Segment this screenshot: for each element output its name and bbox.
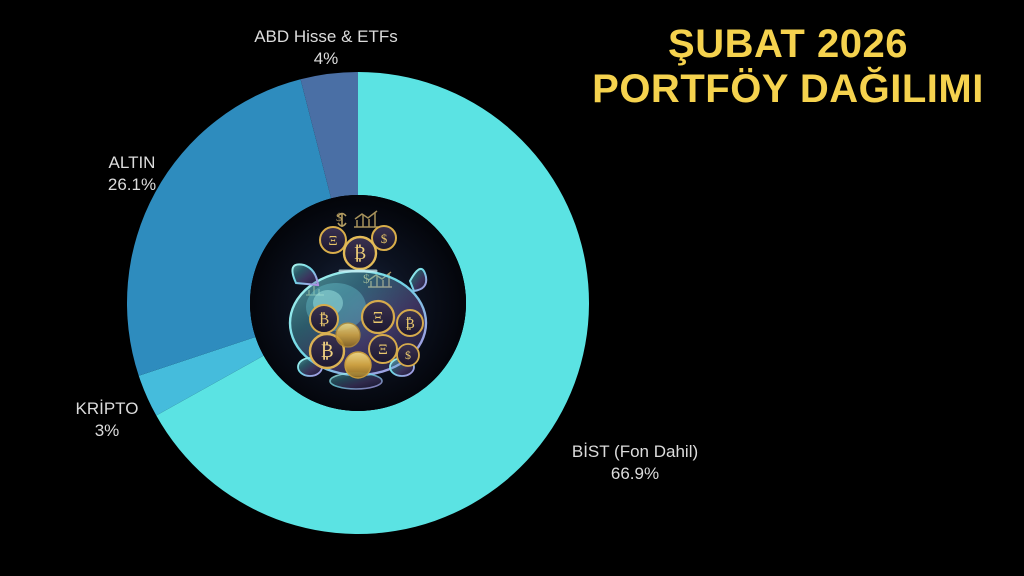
- slice-label-kripto: KRİPTO 3%: [46, 398, 168, 443]
- slice-label-bist: BİST (Fon Dahil) 66.9%: [556, 441, 714, 486]
- svg-text:Ξ: Ξ: [328, 234, 337, 249]
- svg-text:₿: ₿: [354, 243, 366, 263]
- slice-label-text: KRİPTO: [46, 398, 168, 420]
- slice-label-text: ABD Hisse & ETFs: [240, 26, 412, 48]
- svg-text:$: $: [336, 210, 342, 224]
- piggy-bank-crypto-illustration: $ $ Ξ $ ₿: [250, 195, 466, 411]
- slice-label-abd-hisse-etfs: ABD Hisse & ETFs 4%: [240, 26, 412, 71]
- slide-canvas: ŞUBAT 2026 PORTFÖY DAĞILIMI: [0, 0, 1024, 576]
- slice-label-text: BİST (Fon Dahil): [556, 441, 714, 463]
- svg-text:$: $: [381, 231, 388, 246]
- slice-value-text: 3%: [46, 420, 168, 442]
- piggy-bank-icon: $ $ Ξ $ ₿: [250, 195, 466, 411]
- slice-label-altin: ALTIN 26.1%: [72, 152, 192, 197]
- svg-text:₿: ₿: [319, 312, 329, 328]
- slice-value-text: 26.1%: [72, 174, 192, 196]
- svg-text:₿: ₿: [405, 316, 415, 332]
- slice-value-text: 66.9%: [556, 463, 714, 485]
- svg-text:$: $: [405, 348, 411, 362]
- donut-chart-svg: [0, 0, 1024, 576]
- svg-text:Ξ: Ξ: [378, 342, 388, 358]
- slice-value-text: 4%: [240, 48, 412, 70]
- svg-text:₿: ₿: [320, 341, 333, 362]
- svg-text:Ξ: Ξ: [373, 308, 384, 327]
- portfolio-donut-chart: $ $ Ξ $ ₿: [0, 0, 1024, 576]
- slice-label-text: ALTIN: [72, 152, 192, 174]
